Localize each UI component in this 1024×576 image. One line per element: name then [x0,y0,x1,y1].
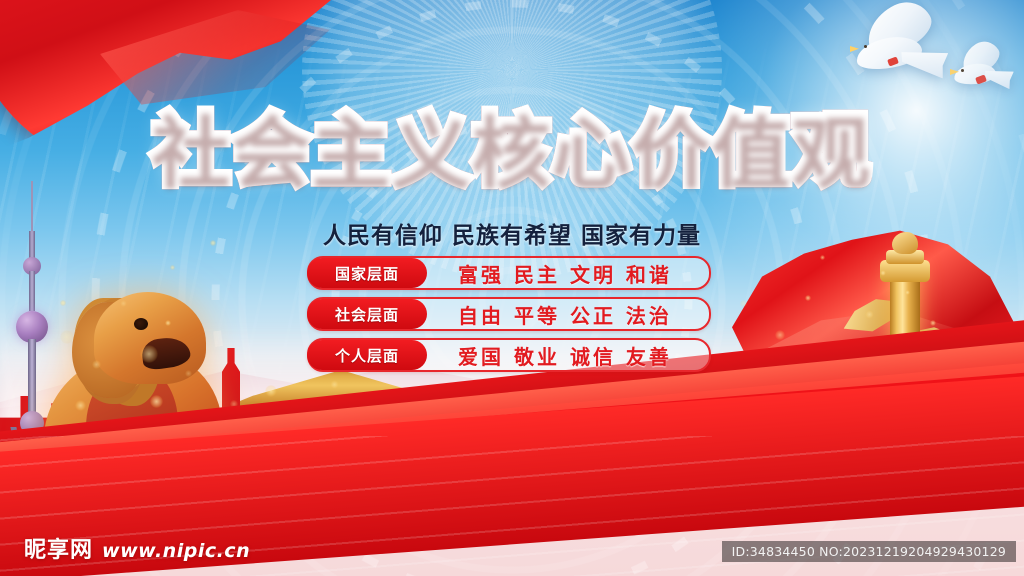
dove-foot [975,75,987,85]
dove-icon-small [944,46,1014,94]
subtitle: 人民有信仰 民族有希望 国家有力量 [0,216,1024,250]
core-values-list: 国家层面 富强 民主 文明 和谐 社会层面 自由 平等 公正 法治 个人层面 爱… [307,256,711,379]
watermark-logo: 昵享网 [24,532,93,564]
value-level-badge: 国家层面 [307,258,427,288]
watermark: 昵享网 www.nipic.cn [24,532,250,564]
value-words: 爱国 敬业 诚信 友善 [427,341,709,370]
value-level-badge: 社会层面 [307,299,427,329]
value-words: 富强 民主 文明 和谐 [427,259,709,288]
dove-icon-large [838,8,948,84]
dove-eye [864,45,867,48]
lion-head [94,292,206,384]
value-level-badge: 个人层面 [307,340,427,370]
page-title-text: 社会主义核心价值观 [152,106,872,196]
image-id-label: ID:34834450 NO:20231219204929430129 [722,541,1016,562]
dove-beak [850,46,859,52]
page-title: 社会主义核心价值观 [0,112,1024,190]
tower-neck [29,271,35,311]
value-words: 自由 平等 公正 法治 [427,300,709,329]
poster-canvas: 社会主义核心价值观 人民有信仰 民族有希望 国家有力量 国家层面 富强 民主 文… [0,0,1024,576]
watermark-url: www.nipic.cn [102,540,250,562]
lion-eye [134,318,148,330]
value-row-national[interactable]: 国家层面 富强 民主 文明 和谐 [307,256,711,290]
value-row-social[interactable]: 社会层面 自由 平等 公正 法治 [307,297,711,331]
dove-eye [961,69,964,72]
value-row-personal[interactable]: 个人层面 爱国 敬业 诚信 友善 [307,338,711,372]
